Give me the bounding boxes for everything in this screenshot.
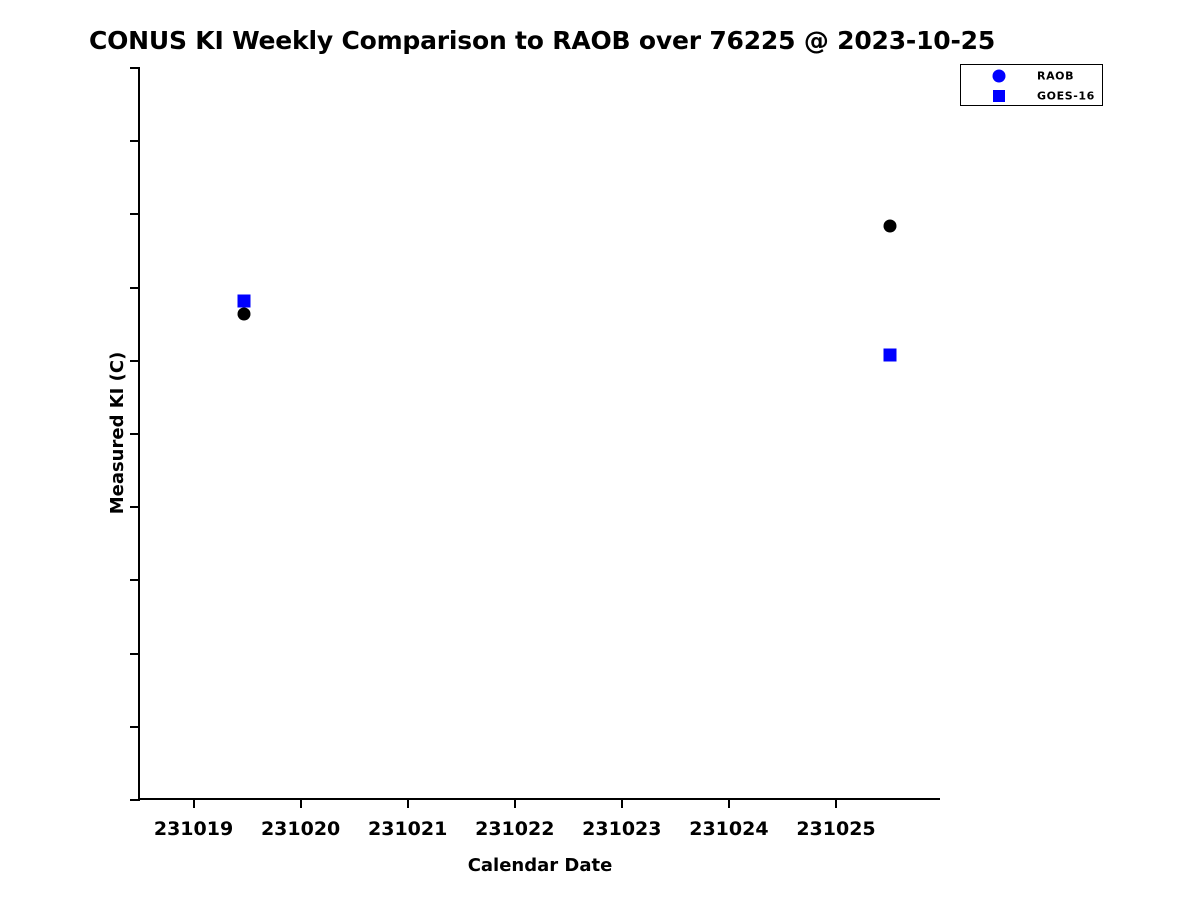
y-axis-tick (130, 579, 140, 581)
y-axis-tick (130, 799, 140, 801)
x-axis-tick (300, 798, 302, 808)
y-axis-tick (130, 140, 140, 142)
y-axis-tick (130, 287, 140, 289)
plot-area: Measured KI (C) Calendar Date 5040302010… (138, 68, 940, 800)
data-point-goes-16 (883, 348, 896, 361)
chart-title: CONUS KI Weekly Comparison to RAOB over … (0, 26, 1084, 55)
x-axis-tick (835, 798, 837, 808)
y-axis-label: Measured KI (C) (107, 352, 128, 515)
y-axis-tick (130, 506, 140, 508)
x-axis-tick-label: 231021 (368, 818, 447, 840)
legend-entry-goes-16: GOES-16 (961, 85, 1102, 106)
data-point-raob (883, 220, 896, 233)
y-axis-tick (130, 67, 140, 69)
x-axis-tick-label: 231020 (261, 818, 340, 840)
x-axis-label: Calendar Date (140, 855, 940, 876)
x-axis-tick-label: 231019 (154, 818, 233, 840)
plot-inner (140, 68, 940, 798)
x-axis-tick (514, 798, 516, 808)
legend-circle-marker-icon (993, 69, 1006, 82)
legend-entry-raob: RAOB (961, 65, 1102, 86)
y-axis-tick (130, 653, 140, 655)
x-axis-tick-label: 231023 (582, 818, 661, 840)
x-axis-tick (407, 798, 409, 808)
x-axis-tick (193, 798, 195, 808)
x-axis-tick (621, 798, 623, 808)
y-axis-tick (130, 360, 140, 362)
x-axis-tick (728, 798, 730, 808)
legend-label-raob: RAOB (1037, 69, 1074, 82)
data-point-goes-16 (237, 294, 250, 307)
legend-square-marker-icon (993, 90, 1005, 102)
chart-figure: CONUS KI Weekly Comparison to RAOB over … (0, 0, 1200, 900)
y-axis-tick (130, 213, 140, 215)
y-axis-tick (130, 433, 140, 435)
y-axis-tick (130, 726, 140, 728)
x-axis-tick-label: 231024 (689, 818, 768, 840)
x-axis-tick-label: 231025 (796, 818, 875, 840)
data-point-raob (237, 307, 250, 320)
x-axis-tick-label: 231022 (475, 818, 554, 840)
chart-legend: RAOB GOES-16 (960, 64, 1103, 106)
legend-label-goes-16: GOES-16 (1037, 89, 1095, 102)
